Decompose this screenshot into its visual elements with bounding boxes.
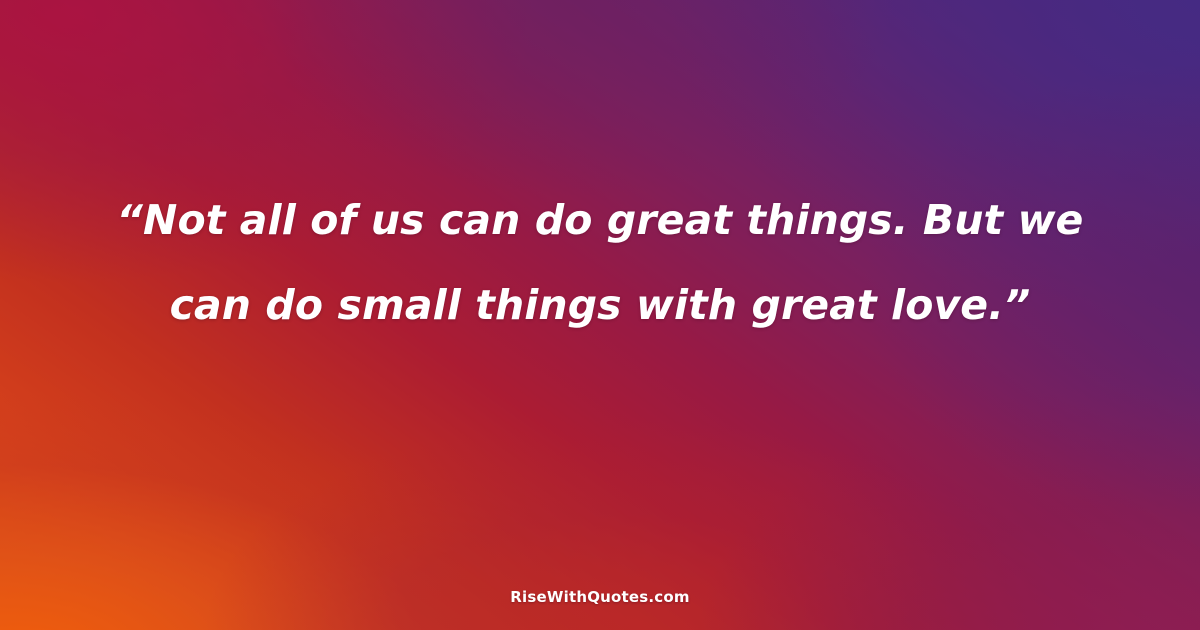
- quote-content: “Not all of us can do great things. But …: [0, 0, 1200, 630]
- site-credit: RiseWithQuotes.com: [0, 588, 1200, 606]
- quote-card: “Not all of us can do great things. But …: [0, 0, 1200, 630]
- quote-text: “Not all of us can do great things. But …: [0, 178, 1200, 348]
